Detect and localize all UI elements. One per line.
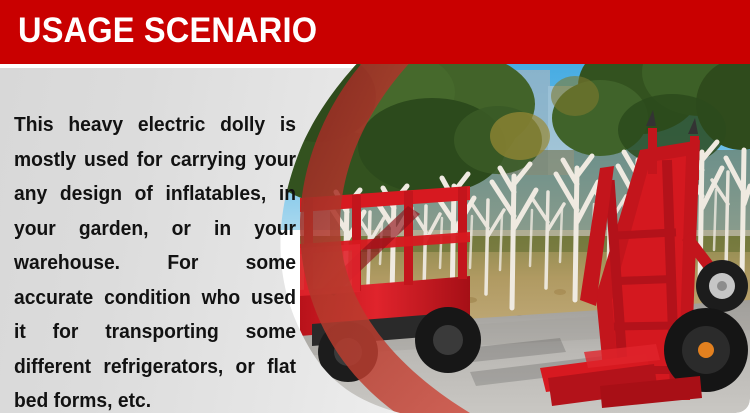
page-title: USAGE SCENARIO — [18, 11, 317, 51]
caster-wheel — [696, 260, 748, 312]
description-paragraph: This heavy electric dolly is mostly used… — [14, 108, 296, 413]
usage-scenario-banner: USAGE SCENARIO This heavy electric dolly… — [0, 0, 750, 413]
mast-right — [690, 136, 699, 180]
mast-left — [648, 128, 657, 174]
description-text: This heavy electric dolly is mostly used… — [14, 108, 296, 413]
header-bar: USAGE SCENARIO — [0, 0, 750, 64]
